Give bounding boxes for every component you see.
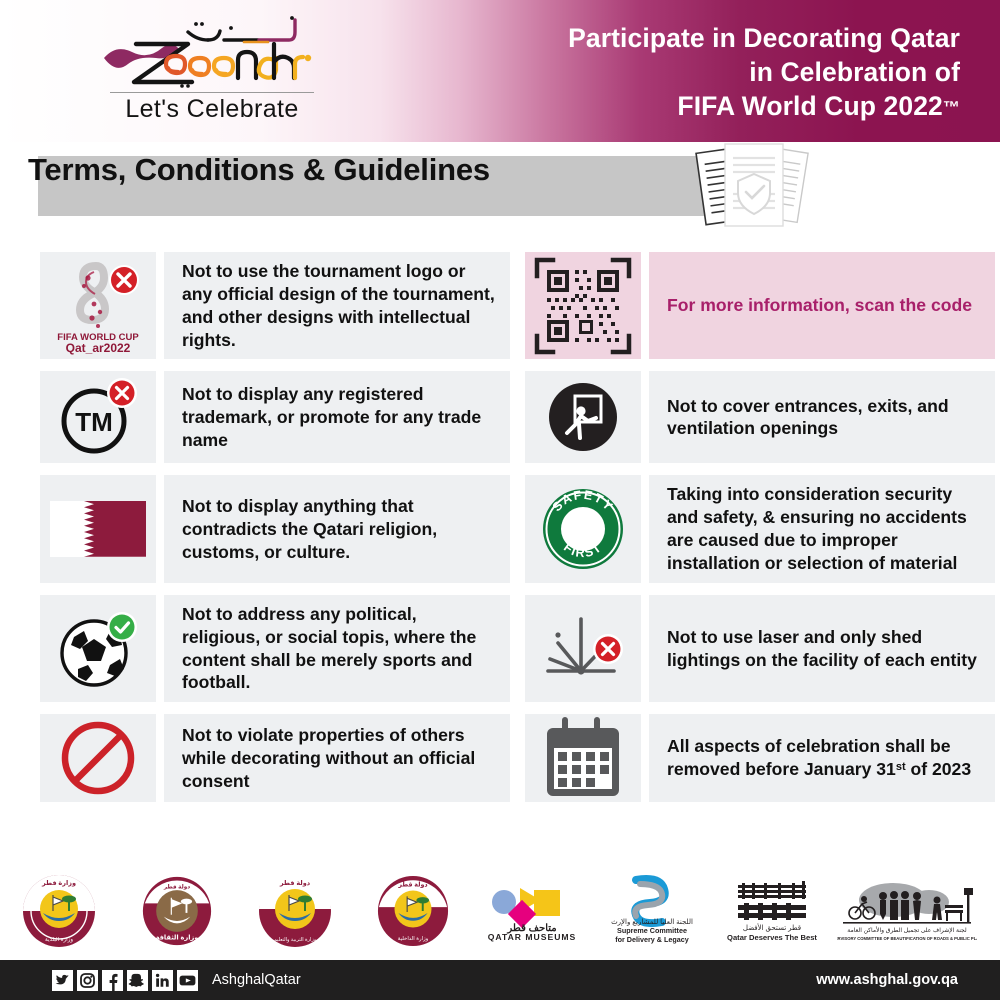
rule-text: Not to address any political, religious,…: [182, 603, 496, 694]
rule-text: Not to use the tournament logo or any of…: [182, 260, 496, 351]
svg-text:دولة قطر: دولة قطر: [397, 882, 428, 889]
svg-text:SUPERVISORY COMMITTEE OF BEAUT: SUPERVISORY COMMITTEE OF BEAUTIFICATION …: [837, 936, 977, 941]
no-entry-prohibition-icon: [40, 714, 156, 802]
rule-text-container: Not to use laser and only shed lightings…: [649, 595, 995, 702]
zeenah-logo: Let's Celebrate: [96, 10, 328, 128]
page-title-line-3-text: FIFA World Cup 2022: [677, 91, 942, 121]
svg-text:وزارة التربية والتعليم: وزارة التربية والتعليم: [274, 937, 317, 943]
documents-shield-icon: [685, 136, 815, 232]
svg-text:وزارة الداخلية: وزارة الداخلية: [398, 936, 429, 942]
rule-text-container: Not to use the tournament logo or any of…: [164, 252, 510, 359]
rules-row: Not to display anything that contradicts…: [0, 475, 1000, 582]
rule-card-trademark: TM Not to display any registered tradema…: [40, 371, 510, 463]
trademark-symbol: ™: [943, 98, 960, 117]
svg-text:Supreme Committee: Supreme Committee: [617, 926, 687, 935]
qatar-flag-icon: [40, 475, 156, 582]
rule-text: Not to violate properties of others whil…: [182, 724, 496, 793]
rule-card-laser: Not to use laser and only shed lightings…: [525, 595, 995, 702]
page-title: Participate in Decorating Qatar in Celeb…: [400, 22, 960, 124]
state-of-qatar-emblem: دولة قطر وزارة الداخلية: [354, 874, 472, 948]
social-handle[interactable]: AshghalQatar: [212, 972, 301, 988]
twitter-icon[interactable]: [52, 970, 73, 991]
rule-card-qatari-culture: Not to display anything that contradicts…: [40, 475, 510, 582]
rule-text-container: For more information, scan the code: [649, 252, 995, 359]
rule-text: Taking into consideration security and s…: [667, 483, 981, 574]
svg-text:وزارة قطر: وزارة قطر: [41, 880, 76, 887]
zeenah-logo-mark: [96, 10, 328, 96]
page-title-line-1: Participate in Decorating Qatar: [400, 22, 960, 56]
rule-text-container: Taking into consideration security and s…: [649, 475, 995, 582]
svg-text:وزارة البلدية: وزارة البلدية: [45, 937, 73, 943]
rule-card-qr-info: For more information, scan the code: [525, 252, 995, 359]
beautification-committee-logo: لجنة الإشراف على تجميل الطرق والأماكن ال…: [832, 878, 982, 944]
page-header: Let's Celebrate Participate in Decoratin…: [0, 0, 1000, 142]
qatar-museums-logo: متاحف قطر QATAR MUSEUMS: [472, 880, 592, 942]
svg-text:وزارة الثقافة: وزارة الثقافة: [156, 934, 199, 941]
page-title-line-2: in Celebration of: [400, 56, 960, 90]
partner-logos-strip: وزارة قطر وزارة البلدية دولة قطر وزارة ا…: [0, 862, 1000, 960]
ministry-of-culture-emblem: دولة قطر وزارة الثقافة: [118, 875, 236, 947]
svg-text:QATAR MUSEUMS: QATAR MUSEUMS: [488, 932, 577, 942]
svg-text:دولة قطر: دولة قطر: [279, 880, 311, 887]
linkedin-icon[interactable]: [152, 970, 173, 991]
rules-row: TM Not to display any registered tradema…: [0, 371, 1000, 463]
ordinal-suffix: st: [896, 761, 906, 773]
rule-text-container: Not to violate properties of others whil…: [164, 714, 510, 802]
ministry-of-education-emblem: دولة قطر وزارة التربية والتعليم: [236, 873, 354, 949]
youtube-icon[interactable]: [177, 970, 198, 991]
ministry-of-municipality-emblem: وزارة قطر وزارة البلدية: [0, 873, 118, 949]
laser-prohibited-icon: [525, 595, 641, 702]
rule-card-removal-date: All aspects of celebration shall be remo…: [525, 714, 995, 802]
supreme-committee-logo: اللجنة العليا للمشاريع والإرث Supreme Co…: [592, 874, 712, 948]
rule-card-entrances: Not to cover entrances, exits, and venti…: [525, 371, 995, 463]
svg-text:for Delivery & Legacy: for Delivery & Legacy: [615, 935, 689, 944]
rule-card-properties: Not to violate properties of others whil…: [40, 714, 510, 802]
fifa-caption-bottom: Qat_ar2022: [66, 341, 131, 355]
emergency-exit-icon: [525, 371, 641, 463]
infographic-page: Let's Celebrate Participate in Decoratin…: [0, 0, 1000, 1000]
rule-card-fifa-logo: FIFA WORLD CUP Qat_ar2022 Not to use the…: [40, 252, 510, 359]
section-title: Terms, Conditions & Guidelines: [28, 152, 490, 188]
facebook-icon[interactable]: [102, 970, 123, 991]
website-url[interactable]: www.ashghal.gov.qa: [816, 972, 958, 988]
rule-text: Not to use laser and only shed lightings…: [667, 626, 981, 672]
svg-text:لجنة الإشراف على تجميل الطرق و: لجنة الإشراف على تجميل الطرق والأماكن ال…: [847, 926, 967, 934]
page-title-line-3: FIFA World Cup 2022™: [400, 90, 960, 124]
rules-row: FIFA WORLD CUP Qat_ar2022 Not to use the…: [0, 252, 1000, 359]
fifa-world-cup-qatar-2022-logo-prohibited-icon: FIFA WORLD CUP Qat_ar2022: [40, 252, 156, 359]
rule-text-container: Not to display anything that contradicts…: [164, 475, 510, 582]
rule-text-container: Not to display any registered trademark,…: [164, 371, 510, 463]
rule-text-container: All aspects of celebration shall be remo…: [649, 714, 995, 802]
rule-text: For more information, scan the code: [667, 294, 972, 317]
trademark-label: TM: [75, 407, 113, 437]
ashghal-logo: قطر تستحق الأفضل Qatar Deserves The Best: [712, 879, 832, 943]
qr-code-icon[interactable]: [525, 252, 641, 359]
rule-text: Not to display anything that contradicts…: [182, 495, 496, 564]
rules-row: Not to violate properties of others whil…: [0, 714, 1000, 802]
rule-text-container: Not to address any political, religious,…: [164, 595, 510, 702]
footer-bar: AshghalQatar www.ashghal.gov.qa: [0, 960, 1000, 1000]
rule-card-safety: SAFETY FIRST Taking into consideration s…: [525, 475, 995, 582]
trademark-prohibited-icon: TM: [40, 371, 156, 463]
rule-text: Not to display any registered trademark,…: [182, 383, 496, 452]
rule-text-after: of 2023: [906, 759, 972, 779]
svg-text:قطر تستحق الأفضل: قطر تستحق الأفضل: [743, 923, 801, 932]
section-title-zone: Terms, Conditions & Guidelines: [0, 142, 1000, 242]
rules-row: Not to address any political, religious,…: [0, 595, 1000, 702]
rule-text: Not to cover entrances, exits, and venti…: [667, 395, 981, 441]
rule-text-container: Not to cover entrances, exits, and venti…: [649, 371, 995, 463]
football-approved-icon: [40, 595, 156, 702]
rules-grid: FIFA WORLD CUP Qat_ar2022 Not to use the…: [0, 252, 1000, 814]
logo-tagline: Let's Celebrate: [96, 95, 328, 124]
social-links: AshghalQatar: [52, 970, 301, 991]
svg-text:اللجنة العليا للمشاريع والإرث: اللجنة العليا للمشاريع والإرث: [611, 919, 693, 926]
svg-text:Qatar Deserves The Best: Qatar Deserves The Best: [727, 933, 817, 942]
rule-text-date: All aspects of celebration shall be remo…: [667, 735, 981, 781]
instagram-icon[interactable]: [77, 970, 98, 991]
logo-divider: [110, 92, 314, 93]
calendar-icon: [525, 714, 641, 802]
svg-text:دولة قطر: دولة قطر: [163, 884, 190, 890]
safety-first-icon: SAFETY FIRST: [525, 475, 641, 582]
rule-card-football: Not to address any political, religious,…: [40, 595, 510, 702]
snapchat-icon[interactable]: [127, 970, 148, 991]
